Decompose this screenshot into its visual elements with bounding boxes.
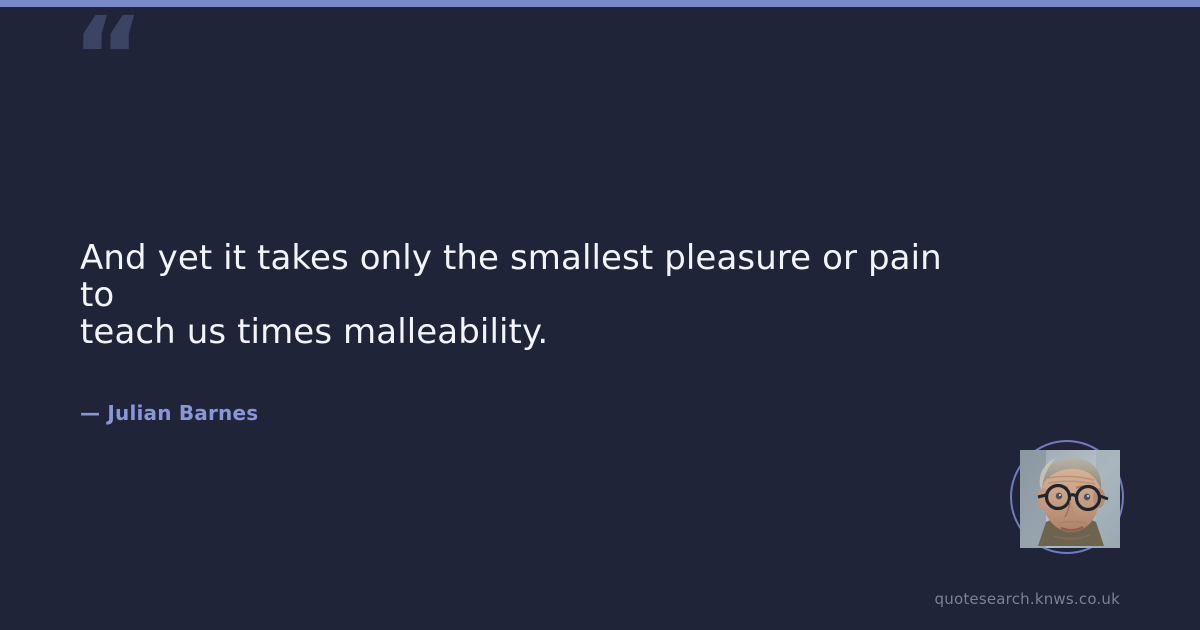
- top-accent-bar: [0, 0, 1200, 7]
- quote-body: And yet it takes only the smallest pleas…: [80, 240, 980, 425]
- quote-card: “ And yet it takes only the smallest ple…: [0, 0, 1200, 630]
- quote-attribution: — Julian Barnes: [80, 351, 980, 425]
- author-portrait: [1010, 440, 1130, 560]
- opening-quote-mark-icon: “: [72, 2, 142, 112]
- quote-text-line-1: And yet it takes only the smallest pleas…: [80, 240, 980, 314]
- quote-text-line-2: teach us times malleability.: [80, 314, 980, 351]
- quote-text: And yet it takes only the smallest pleas…: [80, 240, 980, 351]
- site-watermark: quotesearch.knws.co.uk: [935, 590, 1120, 608]
- portrait-photo: [1020, 450, 1120, 548]
- portrait-illustration: [1020, 450, 1120, 548]
